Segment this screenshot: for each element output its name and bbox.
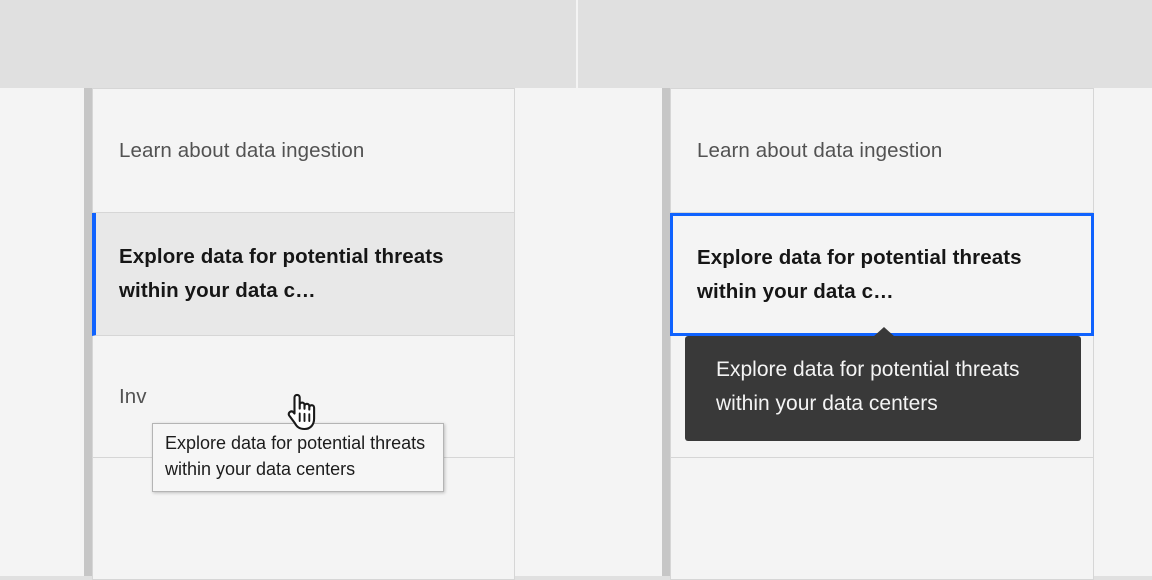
left-gutter-strip: [84, 88, 92, 576]
list-item-label: Learn about data ingestion: [697, 134, 942, 168]
comparison-stage: Learn about data ingestion Explore data …: [0, 0, 1152, 576]
definition-tooltip-text: Explore data for potential threats withi…: [716, 358, 1020, 415]
native-tooltip: Explore data for potential threats withi…: [152, 423, 444, 492]
list-item-hovered[interactable]: Explore data for potential threats withi…: [92, 213, 515, 336]
definition-tooltip: Explore data for potential threats withi…: [685, 336, 1081, 441]
right-list-region: Learn about data ingestion Explore data …: [578, 88, 1152, 576]
list-item-label: Explore data for potential threats withi…: [119, 240, 469, 308]
list-item-label: Inv: [119, 380, 147, 414]
left-panel: Learn about data ingestion Explore data …: [0, 0, 576, 576]
list-item-focused[interactable]: Explore data for potential threats withi…: [670, 213, 1094, 336]
left-tile-list: Learn about data ingestion Explore data …: [92, 88, 515, 580]
right-panel: Learn about data ingestion Explore data …: [576, 0, 1152, 576]
list-item[interactable]: Learn about data ingestion: [670, 88, 1094, 213]
right-gutter-strip: [662, 88, 670, 576]
native-tooltip-text: Explore data for potential threats withi…: [165, 433, 425, 479]
list-item[interactable]: [670, 458, 1094, 580]
left-list-region: Learn about data ingestion Explore data …: [0, 88, 576, 576]
list-item-label: Explore data for potential threats withi…: [697, 241, 1047, 309]
tooltip-caret-icon: [873, 327, 895, 337]
list-item-label: Learn about data ingestion: [119, 134, 364, 168]
list-item[interactable]: Learn about data ingestion: [92, 88, 515, 213]
